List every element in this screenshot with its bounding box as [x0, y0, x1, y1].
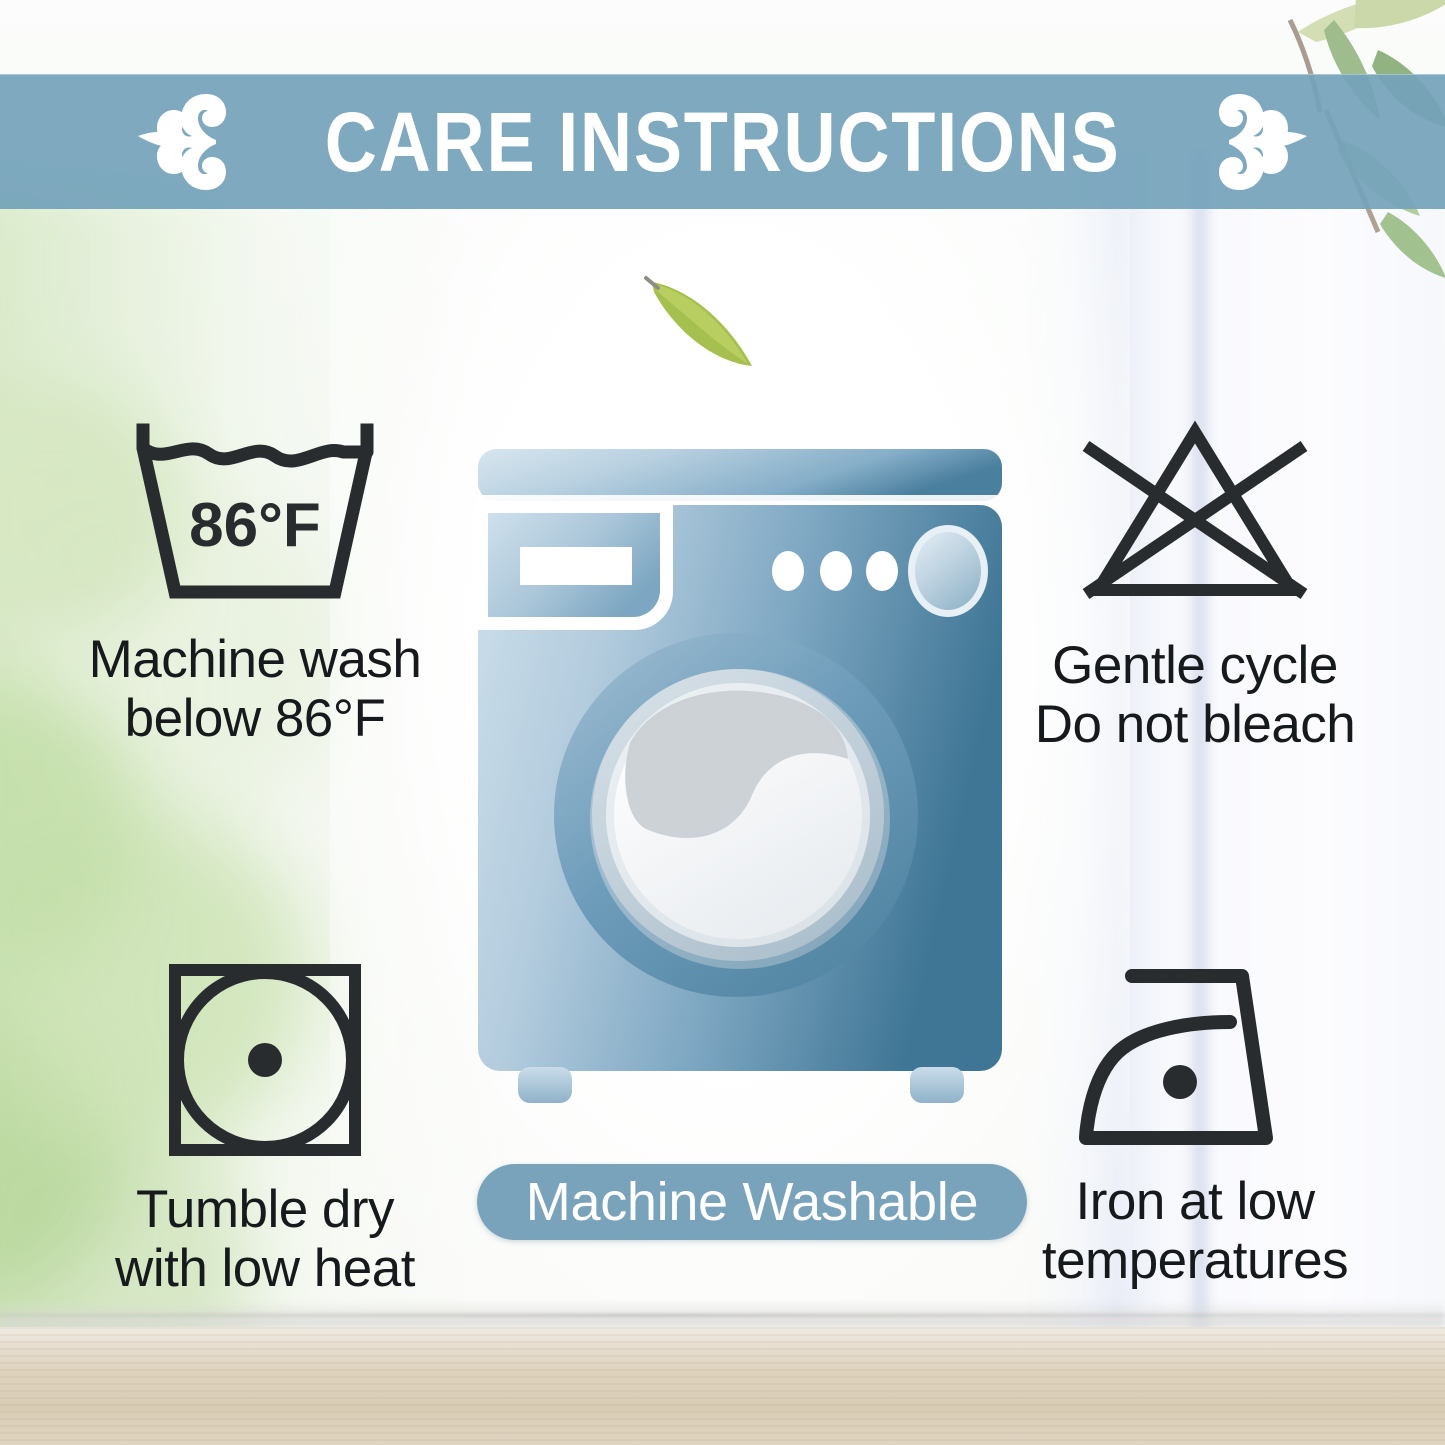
tumble-dry-low-icon [165, 960, 365, 1160]
care-symbol-caption: Iron at low temperatures [960, 1172, 1430, 1291]
washing-machine-illustration [470, 443, 1010, 1133]
wash-tub-icon: 86°F [125, 418, 385, 608]
table-edge-shadow [0, 1301, 1445, 1327]
control-dial-icon [908, 525, 988, 617]
fleur-de-lis-icon [136, 90, 260, 194]
care-instructions-infographic: CARE INSTRUCTIONS 86°F Machine wash belo… [0, 0, 1445, 1445]
care-symbol-caption: Machine wash below 86°F [20, 630, 490, 749]
machine-washable-badge: Machine Washable [477, 1164, 1027, 1240]
fleur-de-lis-icon [1185, 90, 1309, 194]
drawer-slot [520, 547, 632, 585]
iron-one-dot-icon [1070, 960, 1320, 1150]
triangle-crossed-out-icon [1066, 418, 1324, 608]
care-symbol-caption: Tumble dry with low heat [40, 1180, 490, 1299]
care-symbol-tumble-dry: Tumble dry with low heat [40, 960, 490, 1299]
care-symbol-machine-wash: 86°F Machine wash below 86°F [20, 418, 490, 749]
indicator-lights [772, 551, 898, 591]
care-symbol-do-not-bleach: Gentle cycle Do not bleach [960, 418, 1430, 755]
header-banner: CARE INSTRUCTIONS [0, 74, 1445, 209]
washer-lid [478, 449, 1002, 501]
washer-foot-right [910, 1067, 964, 1103]
wash-temperature-label: 86°F [189, 491, 321, 560]
page-title: CARE INSTRUCTIONS [325, 100, 1121, 184]
washer-foot-left [518, 1067, 572, 1103]
care-symbol-iron-low: Iron at low temperatures [960, 960, 1430, 1291]
care-symbol-caption: Gentle cycle Do not bleach [960, 636, 1430, 755]
detergent-drawer [484, 509, 666, 623]
washer-door [554, 633, 918, 997]
badge-label: Machine Washable [526, 1175, 978, 1229]
wooden-table-surface [0, 1327, 1445, 1445]
